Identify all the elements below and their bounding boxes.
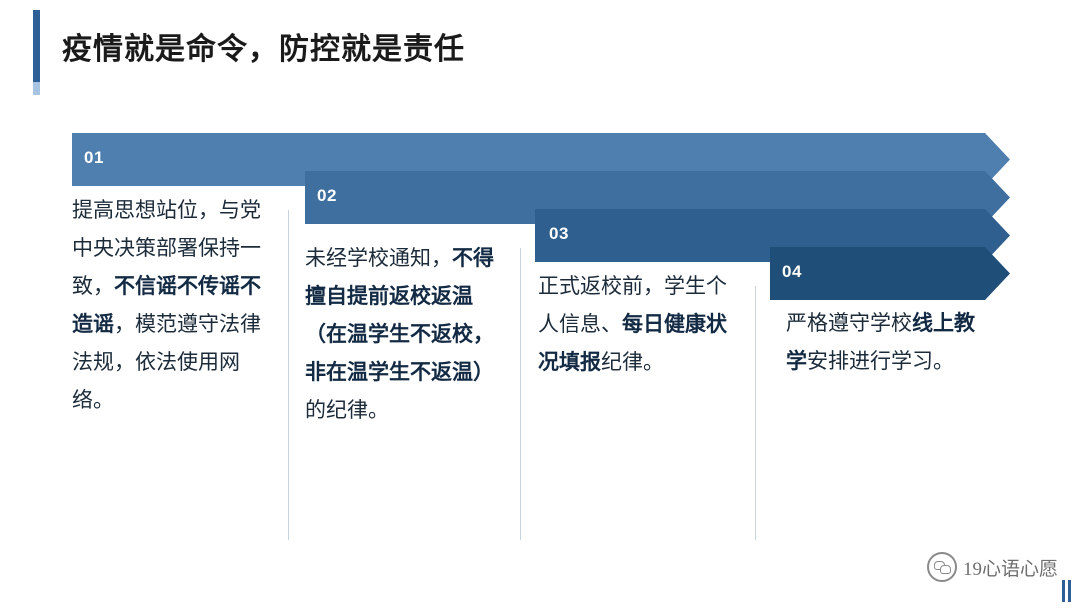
column-divider-2	[520, 248, 521, 540]
banner-number-02: 02	[317, 186, 337, 206]
column-divider-1	[288, 210, 289, 540]
banner-arrow-01	[72, 133, 1010, 186]
corner-mark	[1062, 580, 1074, 602]
page-title: 疫情就是命令，防控就是责任	[62, 24, 465, 68]
banner-arrow-03	[535, 209, 1010, 262]
banner-arrow-02	[305, 171, 1010, 224]
col-04-part-0: 严格遵守学校	[786, 312, 912, 335]
title-accent-bar	[33, 10, 40, 82]
column-divider-3	[755, 286, 756, 540]
col-04-part-2: 安排进行学习。	[807, 350, 954, 373]
banner-number-03: 03	[549, 224, 569, 244]
column-text-04: 严格遵守学校线上教学安排进行学习。	[786, 305, 978, 381]
col-03-part-2: 纪律。	[601, 351, 664, 374]
title-accent-bar-light	[33, 82, 40, 95]
banner-arrow-04	[770, 247, 1010, 300]
wechat-icon	[927, 552, 957, 582]
column-text-01: 提高思想站位，与党中央决策部署保持一致，不信谣不传谣不造谣，模范遵守法律法规，依…	[72, 192, 270, 420]
watermark: 19心语心愿	[927, 552, 1058, 582]
banner-number-01: 01	[84, 148, 104, 168]
col-02-part-2: 的纪律。	[305, 399, 389, 422]
column-text-02: 未经学校通知，不得擅自提前返校返温（在温学生不返校，非在温学生不返温）的纪律。	[305, 240, 503, 430]
column-text-03: 正式返校前，学生个人信息、每日健康状况填报纪律。	[538, 268, 738, 382]
col-02-part-0: 未经学校通知，	[305, 247, 452, 270]
watermark-label: 19心语心愿	[963, 554, 1058, 581]
banner-number-04: 04	[782, 262, 802, 282]
